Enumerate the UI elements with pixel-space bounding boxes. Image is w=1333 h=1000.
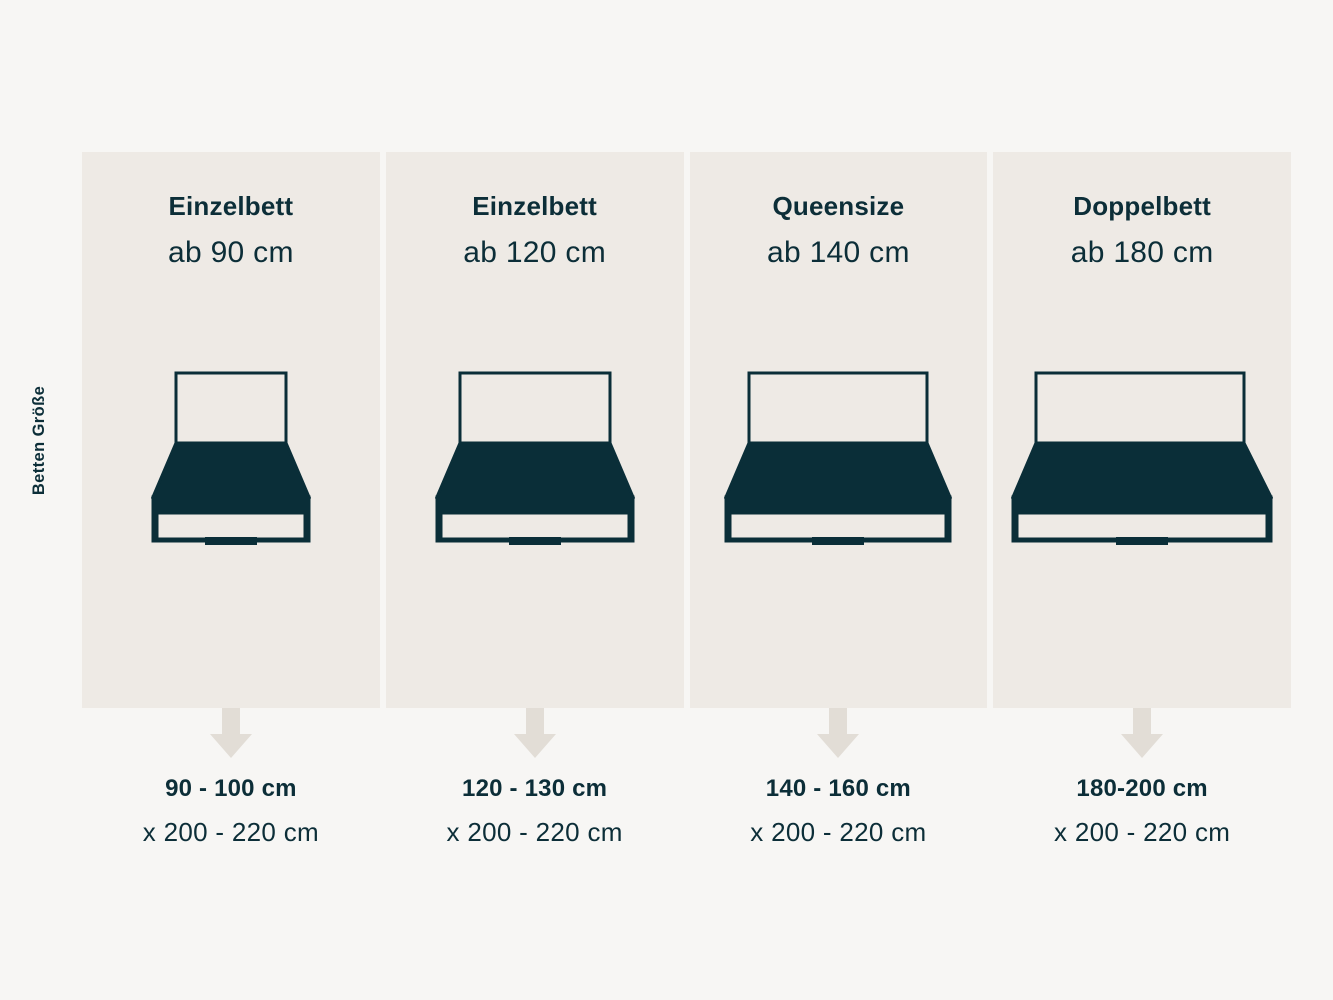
bed-width-range-label: 90 - 100 cm [82,775,380,804]
arrow-cell [386,708,684,766]
panel-einzelbett-120: Einzelbett ab 120 cm [386,152,684,708]
panel-doppelbett-180: Doppelbett ab 180 cm [993,152,1291,708]
down-arrow-icon [812,708,864,760]
down-arrow-icon [509,708,561,760]
bed-width-range-label: 180-200 cm [993,775,1291,804]
bed-type-label: Doppelbett [993,192,1291,222]
bed-length-range-label: x 200 - 220 cm [386,817,684,848]
bed-icon-double-180 [1011,365,1273,545]
bed-icon-queen-140 [724,365,952,545]
bed-illustration-wrap [386,365,684,545]
arrow-cell [82,708,380,766]
bed-illustration-wrap [993,365,1291,545]
axis-label-betten-groesse: Betten Größe [0,330,80,550]
arrow-cell [690,708,988,766]
caption-einzelbett-120: 120 - 130 cm x 200 - 220 cm [386,775,684,885]
bed-icon-single-120 [435,365,635,545]
panel-queensize-140: Queensize ab 140 cm [690,152,988,708]
bed-length-range-label: x 200 - 220 cm [82,817,380,848]
bed-icon-single-90 [151,365,311,545]
bed-illustration-wrap [82,365,380,545]
caption-einzelbett-90: 90 - 100 cm x 200 - 220 cm [82,775,380,885]
bed-min-size-label: ab 180 cm [993,236,1291,271]
bed-sizes-infographic: Betten Größe Einzelbett ab 90 cm [0,0,1333,1000]
panel-title: Einzelbett ab 90 cm [82,192,380,270]
caption-row: 90 - 100 cm x 200 - 220 cm 120 - 130 cm … [82,775,1291,885]
panel-einzelbett-90: Einzelbett ab 90 cm [82,152,380,708]
down-arrow-icon [1116,708,1168,760]
bed-min-size-label: ab 140 cm [690,236,988,271]
bed-illustration-wrap [690,365,988,545]
bed-type-label: Queensize [690,192,988,222]
arrow-cell [993,708,1291,766]
bed-min-size-label: ab 90 cm [82,236,380,271]
caption-queensize-140: 140 - 160 cm x 200 - 220 cm [690,775,988,885]
axis-label-text: Betten Größe [31,385,50,494]
panel-row: Einzelbett ab 90 cm Einzelbett a [82,152,1291,708]
panel-title: Einzelbett ab 120 cm [386,192,684,270]
panel-title: Doppelbett ab 180 cm [993,192,1291,270]
down-arrow-icon [205,708,257,760]
bed-width-range-label: 120 - 130 cm [386,775,684,804]
bed-length-range-label: x 200 - 220 cm [690,817,988,848]
bed-width-range-label: 140 - 160 cm [690,775,988,804]
panel-title: Queensize ab 140 cm [690,192,988,270]
bed-type-label: Einzelbett [82,192,380,222]
bed-type-label: Einzelbett [386,192,684,222]
bed-min-size-label: ab 120 cm [386,236,684,271]
arrow-row [82,708,1291,766]
bed-length-range-label: x 200 - 220 cm [993,817,1291,848]
caption-doppelbett-180: 180-200 cm x 200 - 220 cm [993,775,1291,885]
